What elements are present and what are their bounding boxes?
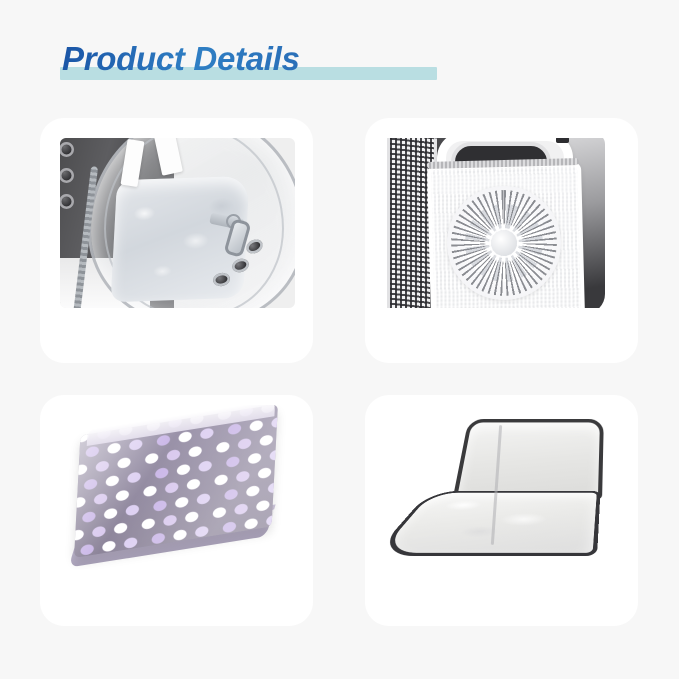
plush-blanket-photo <box>58 405 298 570</box>
vent-grommet-icon <box>60 168 74 183</box>
detail-card-hard-cushion[interactable]: Hard cushion included <box>365 395 638 626</box>
detail-card-pocket-with-fan[interactable]: Pocket with fan (sold in our store) <box>365 118 638 363</box>
fan-hub <box>491 230 517 256</box>
hard-cushion-photo <box>383 409 623 569</box>
detail-card-plush-blanket[interactable]: Plush blanket included <box>40 395 313 626</box>
cushion-nap-texture <box>389 492 585 544</box>
detail-card-safe-leash[interactable]: Safe leash <box>40 118 313 363</box>
pocket-with-fan-photo <box>385 138 620 308</box>
vent-grommet-icon <box>60 194 74 209</box>
cushion-back-panel <box>453 419 604 499</box>
page-title: Product Details <box>62 40 300 78</box>
page-header: Product Details <box>0 0 679 112</box>
fan-icon <box>447 186 561 300</box>
vent-grommet-icon <box>60 142 74 157</box>
safe-leash-photo <box>60 138 295 308</box>
fan-power-button-icon <box>556 138 569 143</box>
